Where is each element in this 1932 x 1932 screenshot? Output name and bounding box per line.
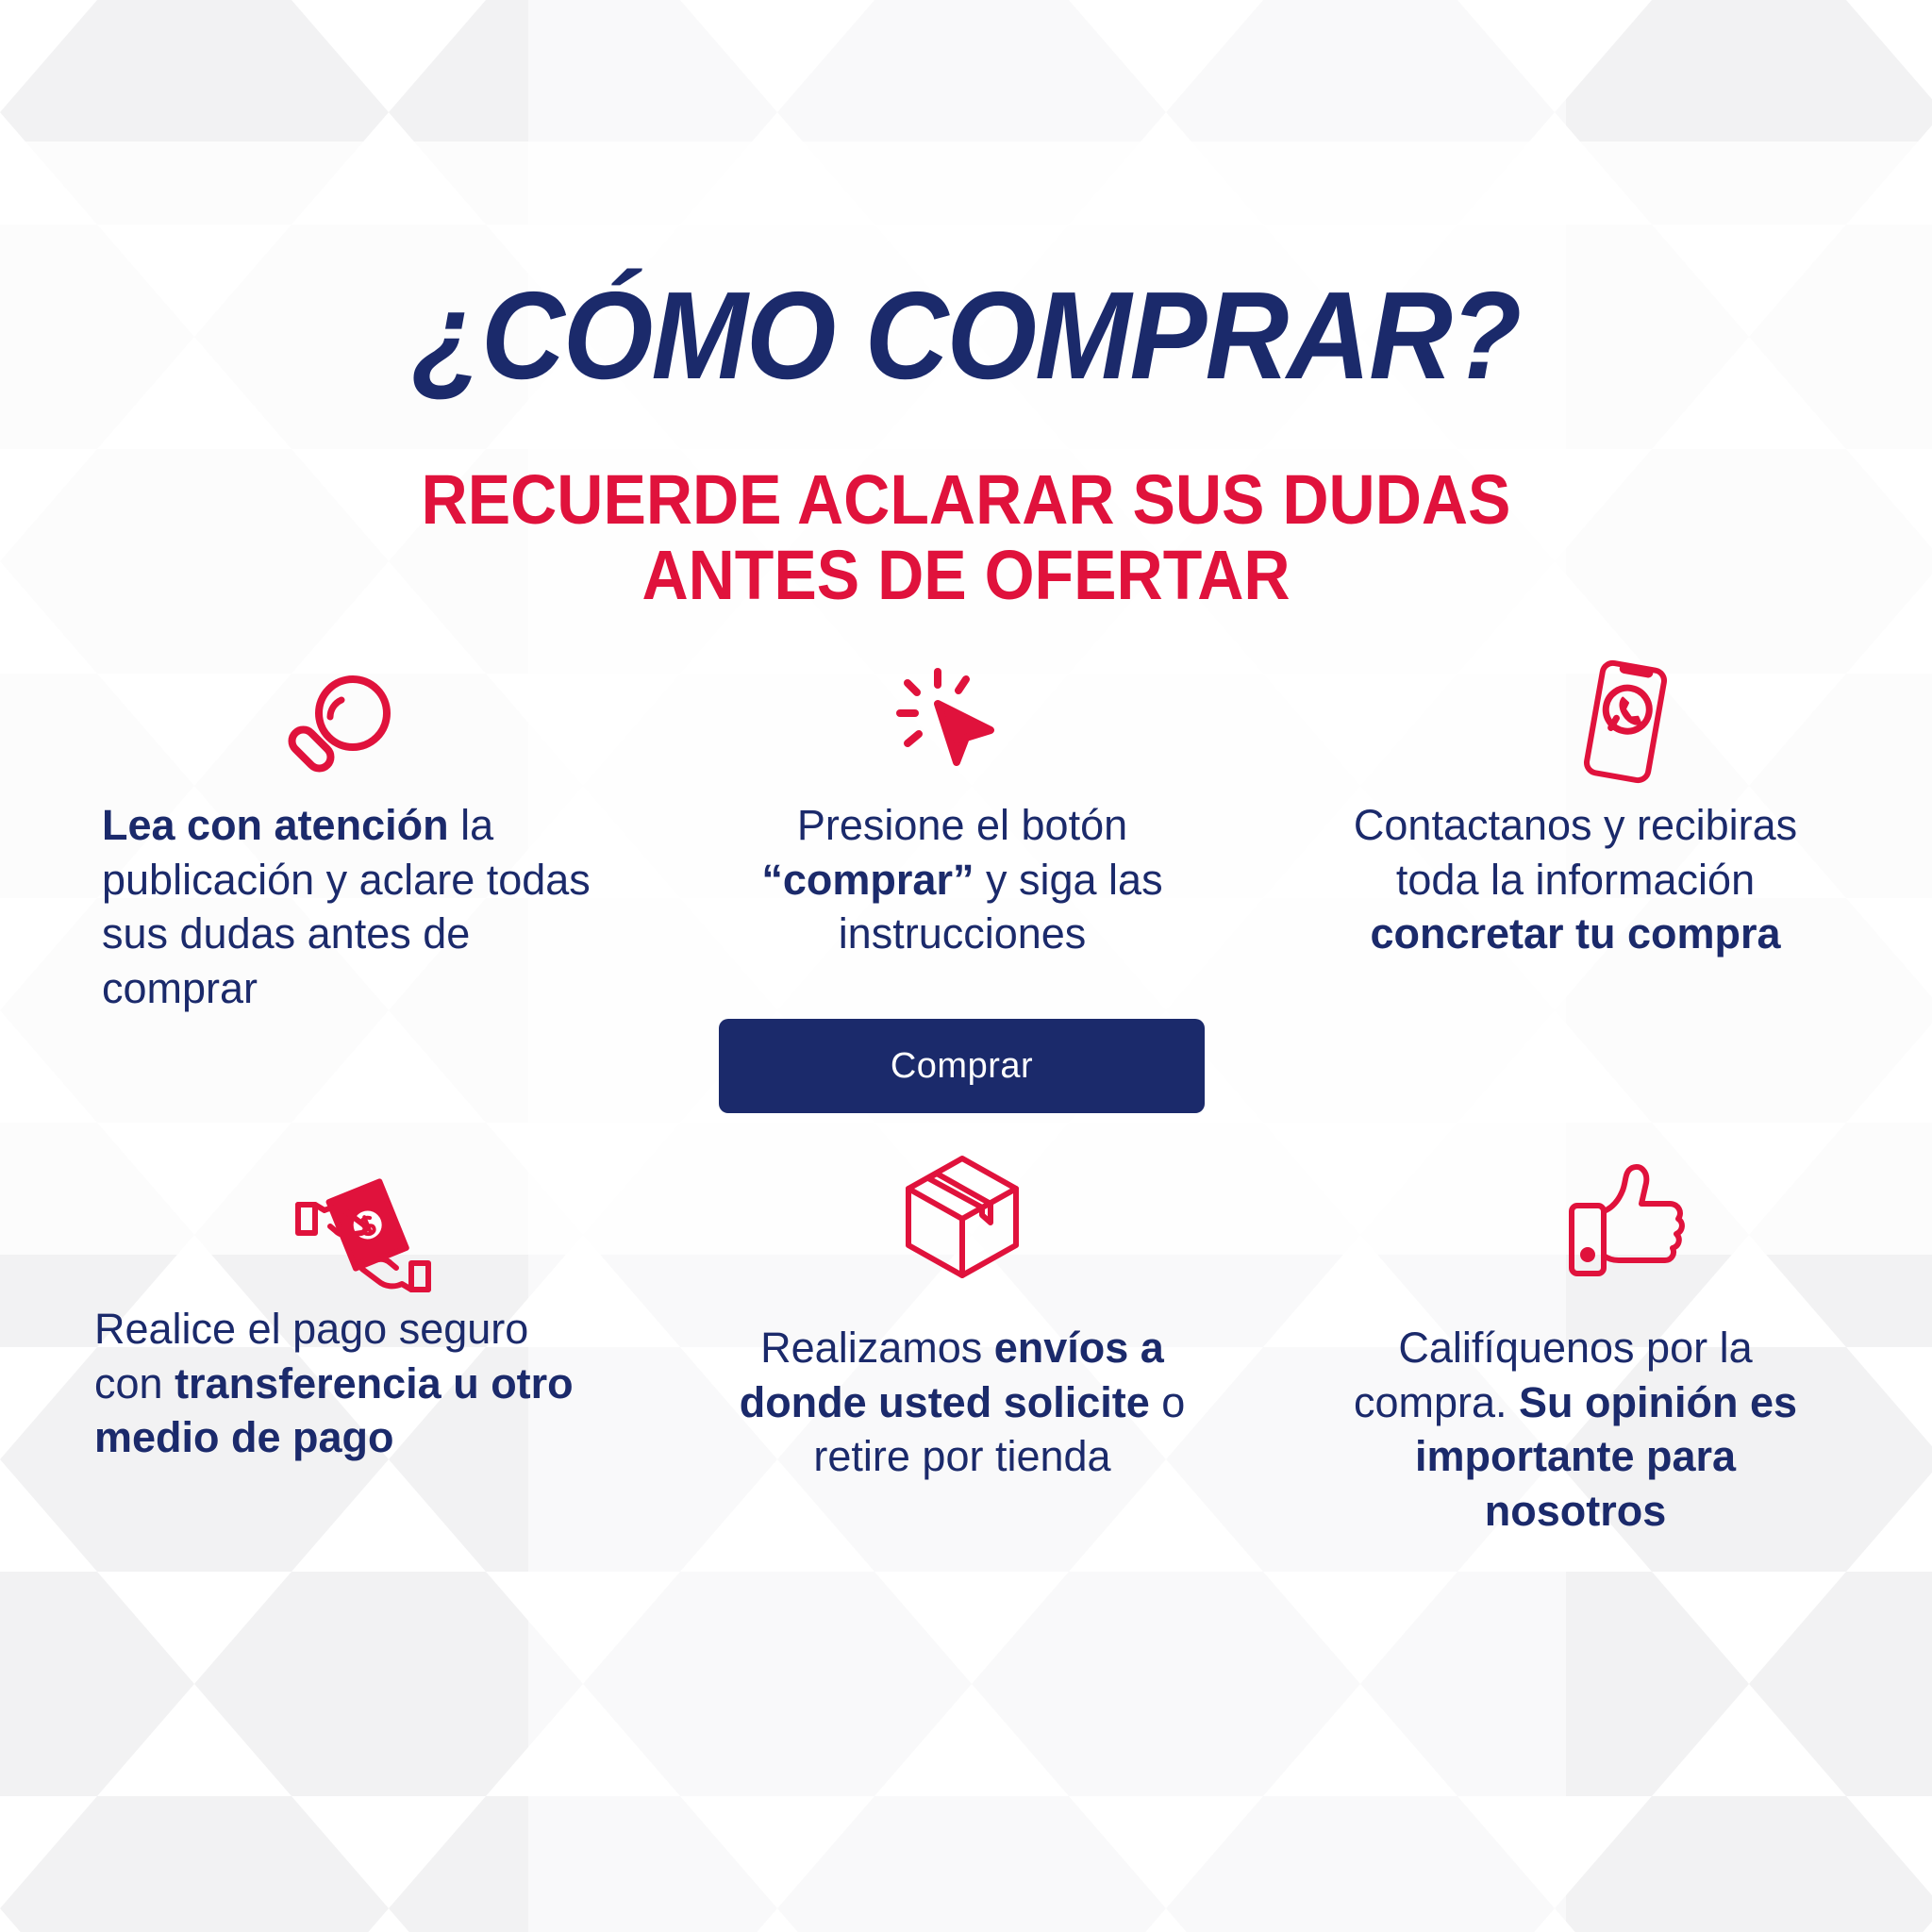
magnifier-icon <box>283 670 396 783</box>
step-card-rate-us: Califíquenos por la compra. Su opinión e… <box>1340 1321 1811 1538</box>
card1-bold-lead: Lea con atención <box>102 801 460 849</box>
subtitle-line-2: ANTES DE OFERTAR <box>77 538 1855 613</box>
step-card-press-buy: Presione el botón “comprar” y siga las i… <box>717 798 1207 961</box>
step-card-shipping: Realizamos envíos a donde usted solicite… <box>717 1321 1207 1484</box>
whatsapp-phone-icon <box>1574 660 1677 783</box>
step-card-read-listing: Lea con atención la publicación y aclare… <box>102 798 592 1015</box>
comprar-button[interactable]: Comprar <box>719 1019 1205 1113</box>
shipping-box-icon <box>901 1151 1024 1283</box>
step-card-payment: Realice el pago seguro con transferencia… <box>94 1302 585 1465</box>
click-cursor-icon <box>896 672 1000 775</box>
subtitle-line-1: RECUERDE ACLARAR SUS DUDAS <box>422 460 1511 539</box>
thumbs-up-icon <box>1566 1158 1684 1286</box>
cash-payment-icon <box>292 1174 434 1297</box>
card2-part-2: “comprar” <box>761 856 974 904</box>
card2-part-1: Presione el botón <box>797 801 1127 849</box>
card3-part-2: concretar tu compra <box>1370 909 1780 958</box>
infographic-canvas: ¿CÓMO COMPRAR? RECUERDE ACLARAR SUS DUDA… <box>0 0 1932 1932</box>
step-card-contact-whatsapp: Contactanos y recibiras toda la informac… <box>1330 798 1821 961</box>
page-title: ¿CÓMO COMPRAR? <box>68 274 1865 398</box>
card3-part-1: Contactanos y recibiras toda la informac… <box>1354 801 1797 904</box>
page-subtitle: RECUERDE ACLARAR SUS DUDAS ANTES DE OFER… <box>77 462 1855 613</box>
card5-part-1: Realizamos <box>760 1324 994 1372</box>
